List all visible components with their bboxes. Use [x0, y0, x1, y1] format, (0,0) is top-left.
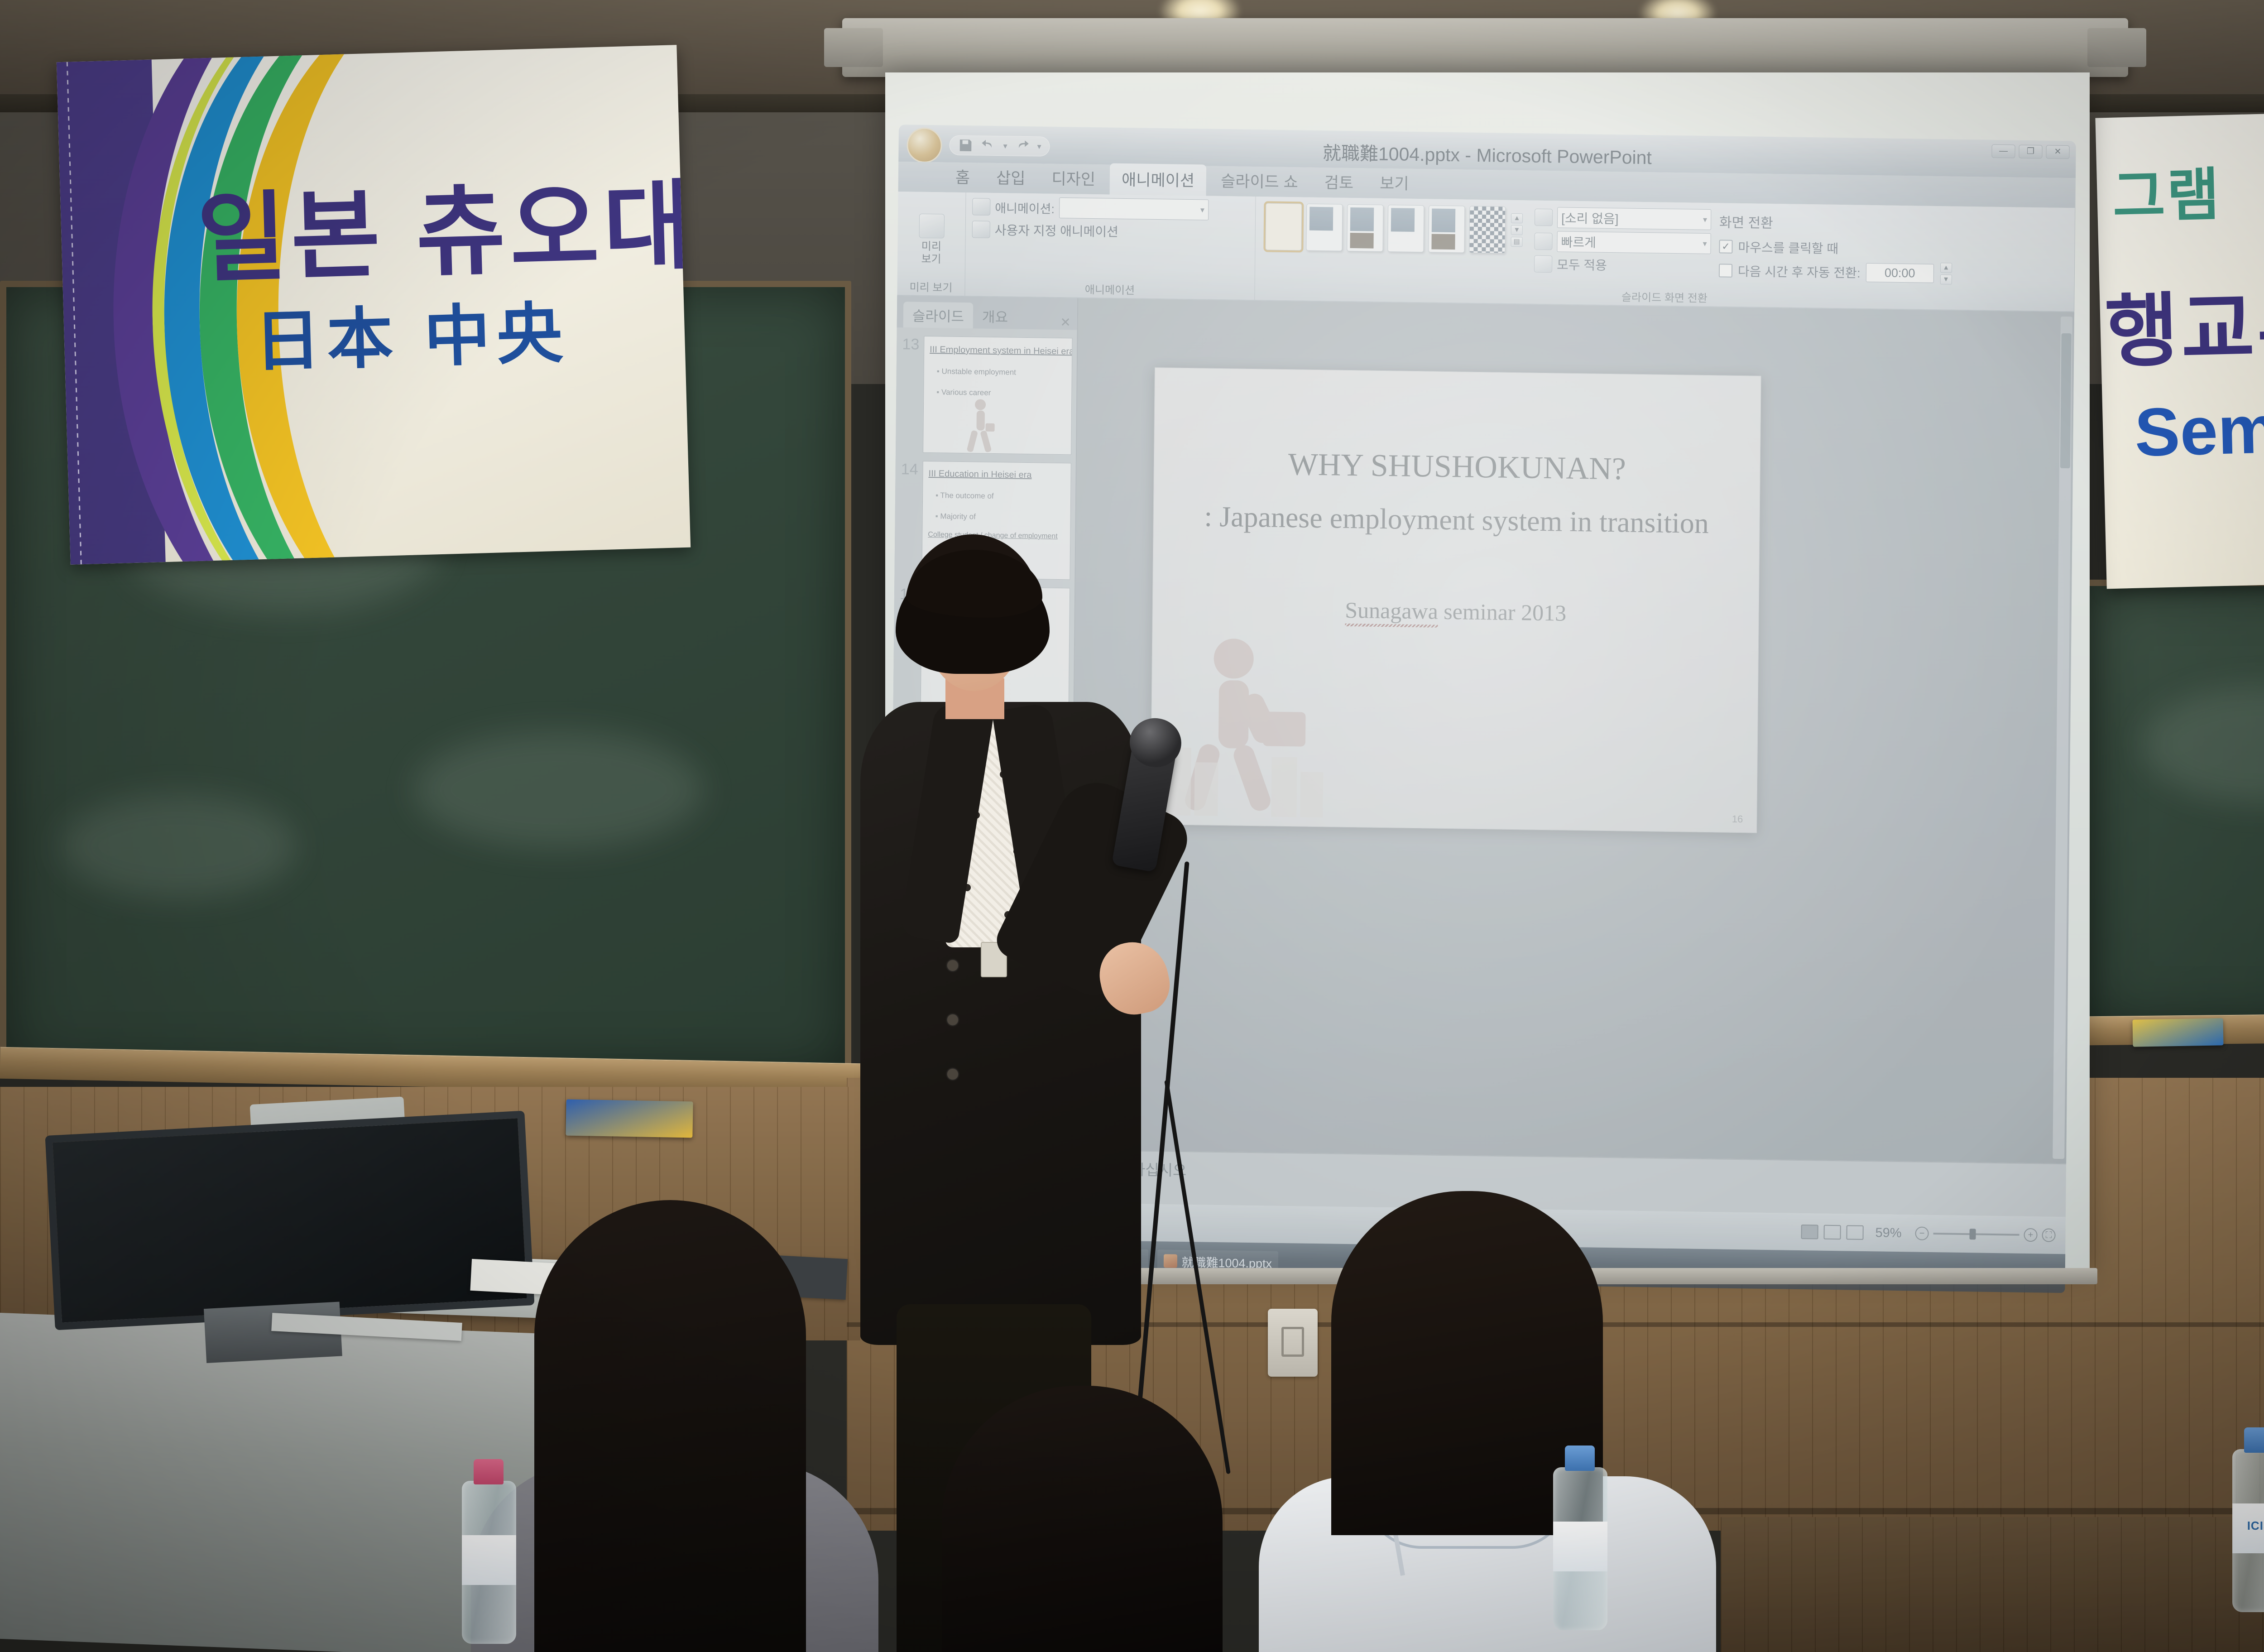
tab-view[interactable]: 보기	[1368, 167, 1421, 199]
thumbnail-bullet: The outcome of	[928, 491, 1065, 502]
transition-options-left[interactable]: [소리 없음] ▾ 빠르게 ▾ 모두 적용	[1534, 204, 1711, 279]
custom-animation-icon	[972, 221, 990, 238]
chalkboard-right	[2083, 580, 2264, 1032]
screen-case-end-right	[2087, 28, 2146, 67]
animation-label: 애니메이션:	[995, 198, 1055, 216]
thumbnail-bullet: Unstable employment	[930, 367, 1066, 378]
custom-animation-row[interactable]: 사용자 지정 애니메이션	[972, 220, 1249, 242]
ribbon-group-preview[interactable]: 미리 보기 미리 보기	[897, 192, 966, 296]
animation-icon	[972, 198, 990, 216]
zoom-out-button[interactable]: −	[1915, 1227, 1928, 1240]
window-controls[interactable]: — ❐ ✕	[1991, 144, 2069, 159]
advance-after-label: 다음 시간 후 자동 전환:	[1738, 262, 1861, 282]
transition-none[interactable]	[1265, 203, 1302, 250]
thumbnail-bullet: Various career	[929, 388, 1066, 399]
transition-section-label: 화면 전환	[1719, 211, 1952, 234]
transition-push-down[interactable]	[1387, 205, 1424, 252]
walking-figure-icon	[964, 399, 997, 453]
transition-sound-value: [소리 없음]	[1561, 208, 1619, 227]
chevron-down-icon[interactable]: ▾	[1703, 239, 1707, 248]
transition-fade-smooth[interactable]	[1306, 204, 1343, 251]
gallery-scroll-down-icon[interactable]: ▼	[1511, 225, 1523, 235]
fit-to-window-button[interactable]: ⛶	[2042, 1228, 2055, 1242]
transition-random-bars[interactable]	[1469, 206, 1506, 254]
bottle-brand: ICIS	[2232, 1519, 2264, 1533]
presenter-jacket-button	[947, 1014, 958, 1025]
banner-right-english-line: Seminar	[2134, 387, 2264, 471]
slide-title[interactable]: WHY SHUSHOKUNAN?	[1154, 445, 1760, 490]
zoom-level: 59%	[1875, 1225, 1901, 1241]
transition-fade-through-black[interactable]	[1347, 204, 1383, 252]
floor-strip	[1721, 1517, 2264, 1652]
book-right-ledge	[2132, 1018, 2223, 1047]
slide-canvas[interactable]: WHY SHUSHOKUNAN? : Japanese employment s…	[1070, 298, 2074, 1164]
transition-speed-combo[interactable]: 빠르게 ▾	[1557, 231, 1711, 254]
apply-to-all-label[interactable]: 모두 적용	[1557, 255, 1607, 274]
preview-label-line2: 보기	[921, 253, 941, 265]
apply-to-all-row[interactable]: 모두 적용	[1534, 255, 1711, 275]
close-button[interactable]: ✕	[2046, 145, 2069, 159]
monitor-screen	[45, 1111, 534, 1330]
bottle-label: ICIS	[2232, 1503, 2264, 1553]
advance-after-spinner[interactable]: ▲ ▼	[1940, 263, 1952, 284]
maximize-button[interactable]: ❐	[2019, 145, 2042, 159]
transition-speed-row[interactable]: 빠르게 ▾	[1534, 231, 1711, 254]
water-bottle-center	[1553, 1467, 1607, 1630]
advance-on-click-row[interactable]: ✓ 마우스를 클릭할 때	[1719, 237, 1952, 259]
slide-sorter-view-icon[interactable]	[1823, 1225, 1841, 1240]
tab-slideshow[interactable]: 슬라이드 쇼	[1209, 165, 1310, 197]
gallery-scroll-up-icon[interactable]: ▲	[1511, 213, 1523, 223]
close-pane-icon[interactable]: ✕	[1060, 315, 1071, 330]
tab-outline[interactable]: 개요	[973, 303, 1017, 329]
slide-credit-rest: seminar 2013	[1438, 599, 1567, 626]
bottle-cap	[1565, 1445, 1595, 1471]
spinner-up-icon[interactable]: ▲	[1940, 263, 1952, 273]
thumbnail-number: 13	[899, 336, 924, 453]
projector-screen-case	[842, 18, 2128, 77]
slide-credit-name: Sunagawa	[1345, 597, 1438, 624]
spinner-down-icon[interactable]: ▼	[1940, 274, 1952, 284]
book-left-ledge	[566, 1100, 693, 1138]
preview-icon	[919, 214, 945, 239]
zoom-in-button[interactable]: +	[2024, 1228, 2037, 1242]
speed-icon	[1534, 233, 1552, 250]
tab-slides[interactable]: 슬라이드	[903, 302, 974, 328]
thumbnail-bullet: Majority of	[928, 512, 1065, 523]
banner-left-korean-line: 일본 츄오대	[195, 147, 691, 301]
bottle-cap	[2244, 1427, 2264, 1453]
view-buttons[interactable]: 59% − + ⛶	[1801, 1225, 2055, 1243]
thumbnail-item[interactable]: 13 III Employment system in Heisei era② …	[896, 327, 1077, 455]
minimize-button[interactable]: —	[1991, 144, 2015, 158]
water-bottle-left	[462, 1481, 516, 1644]
podium-monitor	[45, 1111, 534, 1330]
slide-credit[interactable]: Sunagawa seminar 2013	[1153, 594, 1759, 629]
zoom-knob[interactable]	[1969, 1229, 1976, 1239]
advance-after-row[interactable]: 다음 시간 후 자동 전환: 00:00 ▲ ▼	[1719, 259, 1952, 284]
advance-on-click-checkbox[interactable]: ✓	[1719, 240, 1732, 253]
slide-subtitle[interactable]: : Japanese employment system in transiti…	[1153, 499, 1760, 541]
ribbon-group-animations[interactable]: 애니메이션: ▾ 사용자 지정 애니메이션 애니메이션	[965, 192, 1256, 300]
sound-icon	[1535, 209, 1553, 226]
tab-insert[interactable]: 삽입	[984, 162, 1037, 194]
water-bottle-right: ICIS	[2232, 1449, 2264, 1612]
book-title	[2132, 1018, 2223, 1025]
presenter-jacket-button	[947, 960, 958, 971]
banner-right: 그램 행교류 세미 Seminar	[2095, 109, 2264, 589]
transition-gallery[interactable]: ▲ ▼ ▤	[1262, 200, 1526, 256]
bottle-label	[462, 1535, 516, 1585]
transition-speed-value: 빠르게	[1561, 232, 1596, 251]
scrollbar-thumb[interactable]	[2060, 333, 2072, 468]
thumbnail-slide[interactable]: III Employment system in Heisei era② Uns…	[923, 336, 1072, 455]
animation-row[interactable]: 애니메이션: ▾	[972, 196, 1249, 221]
scene-root: 일본 츄오대 日本 中央 그램 행교류 세미 Seminar ▾ ▾	[0, 0, 2264, 1652]
thumbnail-heading: III Employment system in Heisei era②	[930, 344, 1066, 357]
audience-member-a-head	[534, 1200, 806, 1652]
preview-label-line1: 미리	[921, 240, 941, 253]
normal-view-icon[interactable]	[1801, 1225, 1818, 1239]
chevron-down-icon[interactable]: ▾	[1703, 215, 1707, 224]
current-slide[interactable]: WHY SHUSHOKUNAN? : Japanese employment s…	[1150, 367, 1761, 833]
transition-sound-combo[interactable]: [소리 없음] ▾	[1557, 207, 1711, 230]
ribbon-group-preview-label: 미리 보기	[897, 278, 964, 295]
gallery-scroll-controls[interactable]: ▲ ▼ ▤	[1511, 213, 1523, 247]
ribbon[interactable]: 미리 보기 미리 보기 애니메이션: ▾ 사용자 지정 애니메이션	[897, 192, 2075, 312]
ribbon-group-transitions[interactable]: ▲ ▼ ▤ [소리 없음] ▾	[1255, 197, 2075, 311]
preview-button[interactable]: 미리 보기	[906, 213, 957, 266]
tab-home[interactable]: 홈	[944, 161, 982, 192]
bottle-cap	[474, 1459, 504, 1484]
banner-right-korean-line: 행교류 세미	[2103, 257, 2264, 383]
tab-design[interactable]: 디자인	[1040, 162, 1107, 194]
tab-animations[interactable]: 애니메이션	[1110, 163, 1207, 196]
apply-all-icon	[1534, 255, 1552, 273]
zoom-slider[interactable]: − + ⛶	[1915, 1227, 2055, 1242]
banner-right-program-line: 그램	[2111, 149, 2222, 234]
thumbnail-heading: III Education in Heisei era	[928, 469, 1065, 481]
advance-after-checkbox[interactable]	[1719, 264, 1732, 277]
presenter-jacket-button	[947, 1069, 958, 1080]
animation-combo[interactable]: ▾	[1059, 197, 1209, 221]
slide-page-number: 16	[1732, 813, 1743, 825]
transition-sound-row[interactable]: [소리 없음] ▾	[1535, 207, 1711, 230]
ribbon-group-animations-label: 애니메이션	[965, 279, 1254, 299]
audience-member-b-head	[942, 1386, 1223, 1652]
slideshow-view-icon[interactable]	[1846, 1225, 1863, 1240]
advance-after-time-input[interactable]: 00:00	[1866, 263, 1934, 283]
zoom-track[interactable]	[1933, 1233, 2019, 1236]
walking-businessman-graphic	[1164, 634, 1356, 818]
advance-on-click-label: 마우스를 클릭할 때	[1738, 238, 1838, 257]
transition-options-right[interactable]: 화면 전환 ✓ 마우스를 클릭할 때 다음 시간 후 자동 전환: 00:00 …	[1719, 206, 1952, 288]
banner-left: 일본 츄오대 日本 中央	[57, 45, 691, 565]
banner-left-japanese-line: 日本 中央	[253, 280, 570, 384]
bottle-label	[1553, 1522, 1607, 1571]
gallery-expand-icon[interactable]: ▤	[1511, 237, 1522, 247]
pane-tabs[interactable]: 슬라이드 개요 ✕	[897, 296, 1078, 330]
screen-case-end-left	[824, 28, 883, 67]
custom-animation-label[interactable]: 사용자 지정 애니메이션	[995, 221, 1119, 240]
power-outlet	[1268, 1309, 1318, 1377]
transition-wipe-down[interactable]	[1428, 205, 1465, 253]
chevron-down-icon[interactable]: ▾	[1200, 205, 1204, 215]
tab-review[interactable]: 검토	[1312, 166, 1365, 198]
